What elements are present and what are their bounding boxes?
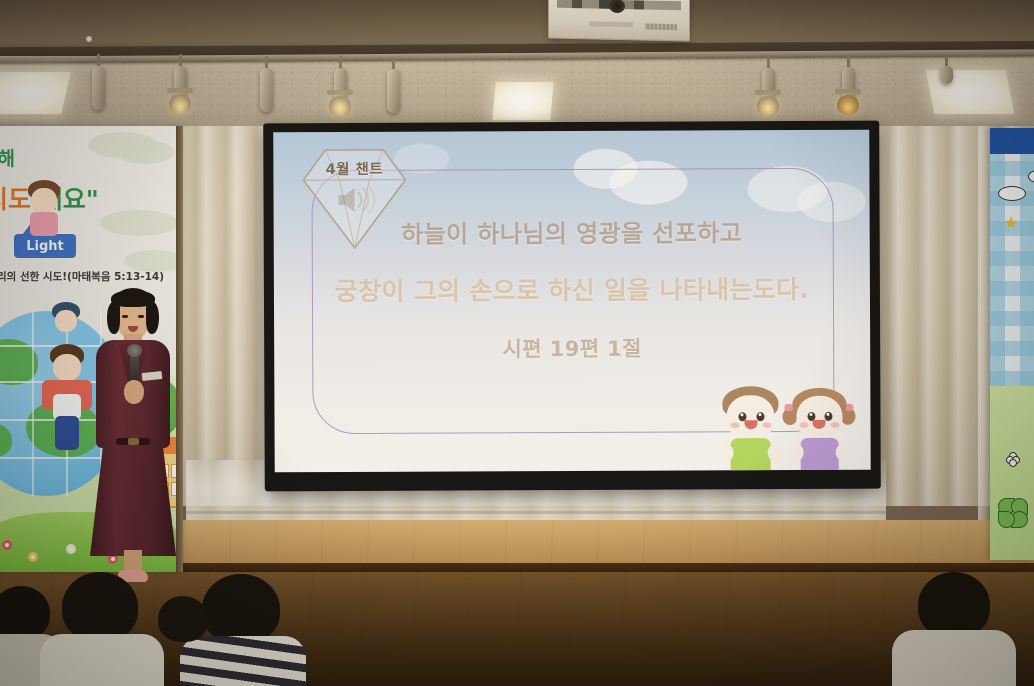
flower-3	[66, 544, 76, 554]
slide-line-3-reference: 시편 19편 1절	[312, 332, 832, 364]
child-body	[148, 636, 214, 686]
child-head	[202, 574, 280, 644]
banner-right	[990, 128, 1034, 560]
projector-lens-icon	[609, 0, 625, 13]
banner-verse-line: 한 우리의 선한 시도!(마태복음 5:13-14)	[0, 269, 180, 284]
presenter-eye-right	[138, 315, 144, 318]
classroom-scene: 4월 챈트 하늘이 하나님의 영광을 선포하고 궁창이 그의 손으로 하신 일을…	[0, 0, 1034, 686]
chant-badge-label: 4월 챈트	[295, 158, 413, 180]
panel-light-1	[0, 72, 71, 114]
flower-icon	[1006, 452, 1019, 465]
slide-text-block: 하늘이 하나님의 영광을 선포하고 궁창이 그의 손으로 하신 일을 나타내는도…	[312, 220, 833, 364]
flower-2	[28, 552, 38, 562]
clover-icon	[998, 498, 1028, 528]
presenter-belt-buckle	[128, 438, 139, 445]
projector-label	[589, 21, 633, 27]
banner-headline-orange: 라시도	[0, 185, 31, 214]
projected-slide: 4월 챈트 하늘이 하나님의 영광을 선포하고 궁창이 그의 손으로 하신 일을…	[273, 130, 870, 473]
projector-vents	[645, 24, 677, 31]
light-tag: Light	[14, 234, 76, 258]
audience-child-4	[152, 596, 212, 686]
slide-line-1: 하늘이 하나님의 영광을 선포하고	[312, 220, 832, 249]
flower-1	[2, 540, 12, 550]
banner-headline-top: 향해	[0, 144, 180, 171]
child-body	[40, 634, 164, 686]
banner-right-green-panel	[990, 386, 1034, 560]
banner-headline-main: 라시도 해요"	[0, 180, 180, 216]
ceiling-projector	[548, 0, 690, 41]
slide-line-2: 궁창이 그의 손으로 하신 일을 나타내는도다.	[312, 276, 832, 306]
child-head	[918, 572, 990, 638]
presenter-hair-right	[146, 302, 159, 334]
curtain-hem-line	[186, 511, 886, 514]
slide-cartoon-characters	[714, 378, 854, 471]
presenter-hair-left	[107, 302, 120, 334]
projection-screen-frame: 4월 챈트 하늘이 하나님의 영광을 선포하고 궁창이 그의 손으로 하신 일을…	[263, 121, 881, 492]
light-tag-label: Light	[26, 239, 64, 254]
child-head	[62, 572, 138, 642]
child-body	[892, 630, 1016, 686]
curtain-right	[868, 126, 980, 506]
ceiling-fixture-screw	[86, 36, 92, 42]
microphone-icon	[127, 344, 142, 357]
audience-child-5	[898, 572, 1018, 686]
audience-child-2	[40, 572, 160, 686]
speaker-icon	[335, 184, 375, 216]
presenter-skirt	[90, 440, 176, 556]
cloud-icon-1	[998, 186, 1026, 201]
presenter-hands	[124, 380, 144, 404]
presenter-speaker	[84, 288, 180, 588]
banner-right-top-band	[990, 128, 1034, 154]
presenter-eye-left	[122, 315, 128, 318]
panel-light-2	[492, 82, 553, 120]
